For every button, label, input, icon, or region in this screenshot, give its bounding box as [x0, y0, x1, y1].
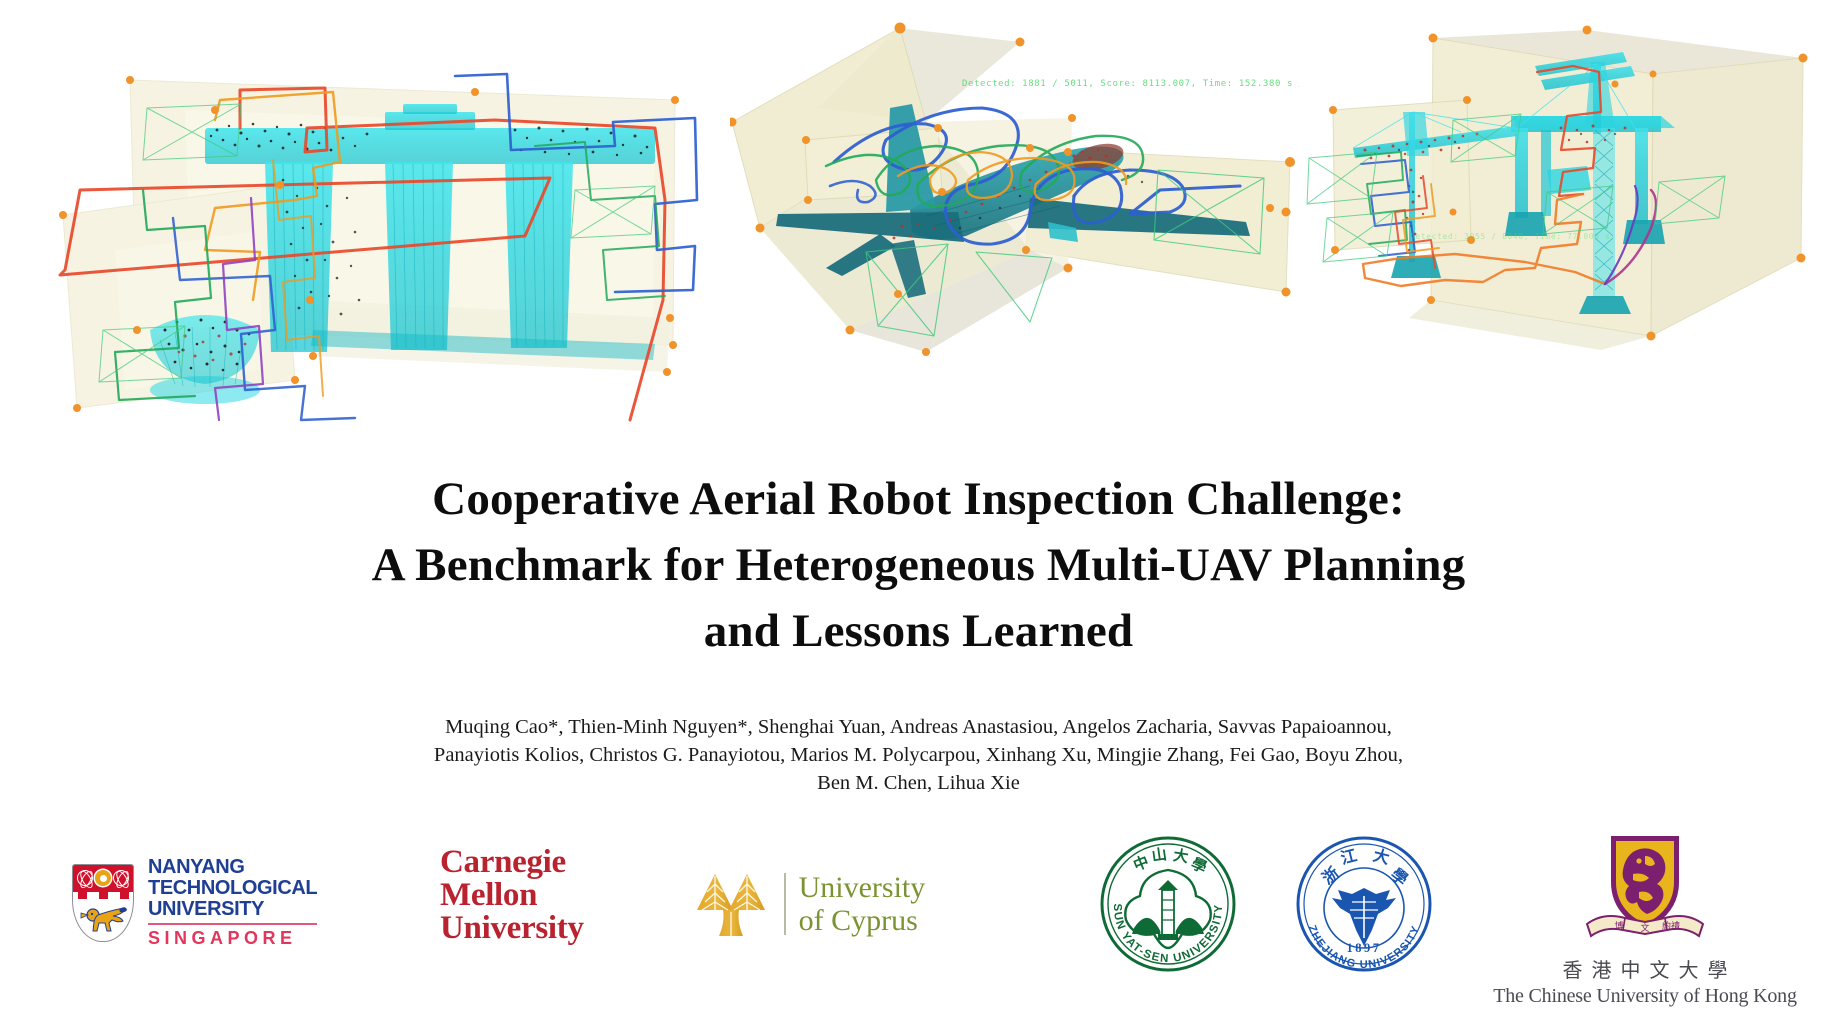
figure-strip: Detected: 1881 / 5011, Score: 8113.007, … [0, 0, 1837, 452]
cuhk-english-title: The Chinese University of Hong Kong [1493, 985, 1797, 1008]
bridge-inspection-scene [55, 0, 755, 452]
logo-nanyang-technological-university: NANYANG TECHNOLOGICAL UNIVERSITY SINGAPO… [72, 828, 392, 1013]
title-line-3: and Lessons Learned [0, 598, 1837, 664]
logo-chinese-university-of-hong-kong: 博 文 約禮 香港中文大學 The Chinese University of … [1490, 828, 1800, 1013]
svg-text:大: 大 [1172, 846, 1190, 866]
logo-university-of-cyprus: University of Cyprus [693, 828, 993, 1013]
gantry-crane-inspection-scene: Detected: 3055 / 8040, Time: 77.000 s [1305, 0, 1825, 452]
ntu-line-1: NANYANG [148, 857, 317, 878]
aircraft-inspection-scene: Detected: 1881 / 5011, Score: 8113.007, … [730, 0, 1300, 452]
svg-text:山: 山 [1151, 845, 1168, 865]
cmu-line-2: Mellon [440, 879, 650, 912]
crane-hud-telemetry: Detected: 3055 / 8040, Time: 77.000 s [1410, 232, 1610, 241]
cmu-line-1: Carnegie [440, 846, 650, 879]
ucy-line-1: University [799, 871, 926, 904]
author-line-2: Panayiotis Kolios, Christos G. Panayioto… [0, 741, 1837, 769]
title-line-2: A Benchmark for Heterogeneous Multi-UAV … [0, 532, 1837, 598]
svg-text:博: 博 [1614, 920, 1623, 932]
ntu-singapore-label: SINGAPORE [148, 928, 317, 949]
ntu-divider-rule [148, 923, 317, 926]
aircraft-hud-telemetry: Detected: 1881 / 5011, Score: 8113.007, … [962, 79, 1300, 89]
ucy-twin-tree-icon [693, 866, 771, 942]
svg-text:1897: 1897 [1347, 941, 1382, 955]
affiliation-logos: NANYANG TECHNOLOGICAL UNIVERSITY SINGAPO… [0, 828, 1837, 1028]
cmu-line-3: University [440, 912, 650, 945]
paper-title: Cooperative Aerial Robot Inspection Chal… [0, 466, 1837, 664]
title-line-1: Cooperative Aerial Robot Inspection Chal… [0, 466, 1837, 532]
cuhk-shield-icon: 博 文 約禮 [1581, 830, 1709, 952]
ntu-shield-icon [72, 864, 134, 942]
cuhk-chinese-title: 香港中文大學 [1554, 954, 1737, 983]
ntu-line-2: TECHNOLOGICAL [148, 878, 317, 899]
svg-text:文: 文 [1640, 922, 1649, 934]
author-line-1: Muqing Cao*, Thien-Minh Nguyen*, Shengha… [0, 713, 1837, 741]
logo-sun-yat-sen-university: 中 山 大 學 SUN YAT-SEN UNIVERSITY [1098, 828, 1248, 1013]
logo-zhejiang-university: 浙 江 大 學 1897 ZHEJIANG UNIVERSITY [1294, 828, 1444, 1013]
ucy-divider [784, 873, 786, 935]
author-list: Muqing Cao*, Thien-Minh Nguyen*, Shengha… [0, 713, 1837, 797]
poster-page: Detected: 1881 / 5011, Score: 8113.007, … [0, 0, 1837, 1028]
author-line-3: Ben M. Chen, Lihua Xie [0, 769, 1837, 797]
sysu-seal-icon: 中 山 大 學 SUN YAT-SEN UNIVERSITY [1098, 834, 1238, 974]
ntu-line-3: UNIVERSITY [148, 899, 317, 920]
ucy-line-2: of Cyprus [799, 904, 926, 937]
zju-seal-icon: 浙 江 大 學 1897 ZHEJIANG UNIVERSITY [1294, 834, 1434, 974]
logo-carnegie-mellon-university: Carnegie Mellon University [440, 828, 650, 1013]
svg-text:約禮: 約禮 [1662, 920, 1680, 932]
